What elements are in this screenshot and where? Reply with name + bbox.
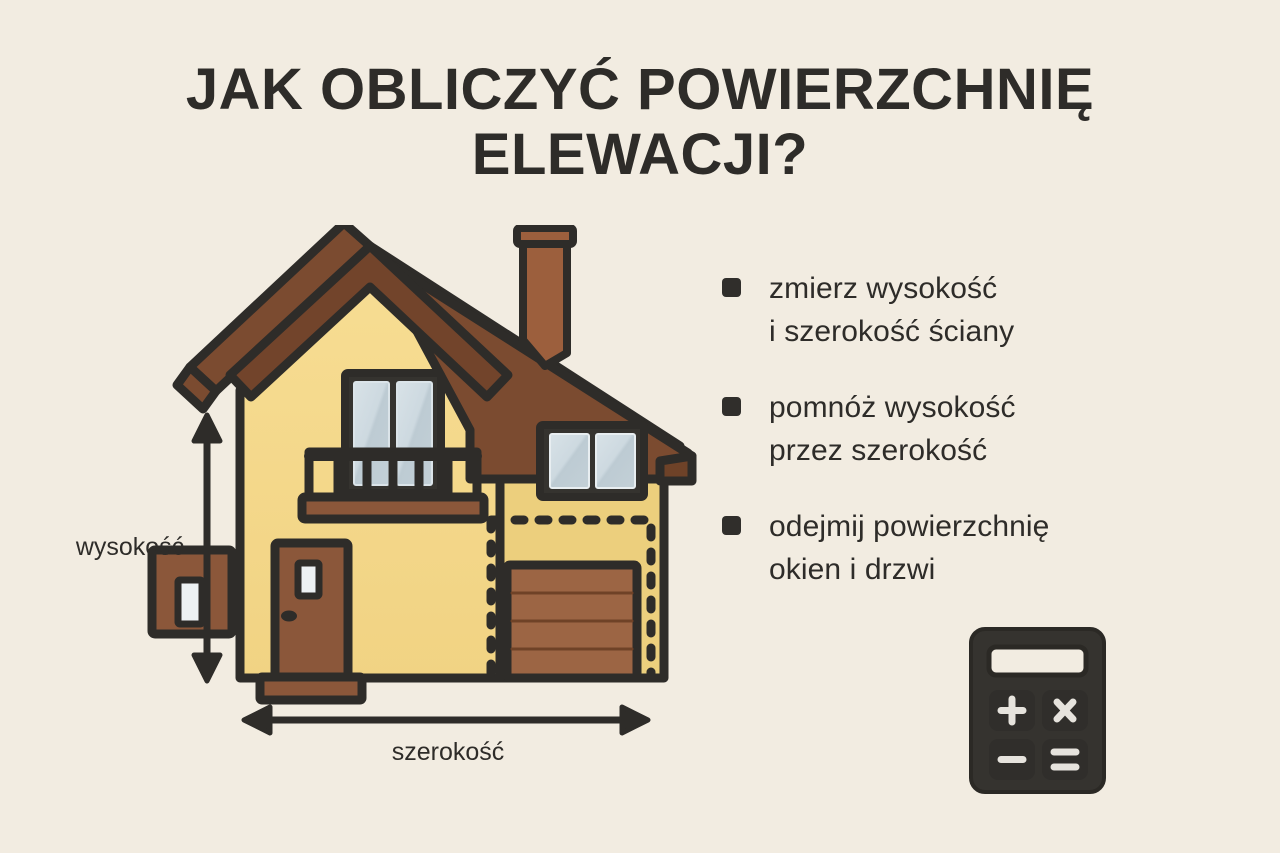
list-item: odejmij powierzchnię okien i drzwi [722,506,1192,591]
chimney-stack [523,240,567,366]
steps-list: zmierz wysokość i szerokość ściany pomnó… [722,268,1192,626]
house-elevation-diagram: wysokość szerokość [40,225,740,805]
list-item-label: odejmij powierzchnię okien i drzwi [769,506,1049,591]
square-bullet-icon [722,397,741,416]
ground-window-pane [178,580,202,624]
balcony-slab [302,497,484,519]
height-label: wysokość [75,533,184,561]
list-item-label: zmierz wysokość i szerokość ściany [769,268,1014,353]
roof-right-eave [660,456,692,481]
width-dimension-arrow [244,707,648,733]
garage-door [507,565,637,678]
list-item: pomnóż wysokość przez szerokość [722,387,1192,472]
square-bullet-icon [722,516,741,535]
list-item-label: pomnóż wysokość przez szerokość [769,387,1016,472]
upper-right-window [540,425,644,497]
square-bullet-icon [722,278,741,297]
front-door-window [298,563,319,596]
calculator-display [989,647,1086,675]
door-step [260,677,362,700]
calculator-key-equals [1042,739,1088,780]
calculator-icon [967,625,1110,797]
list-item: zmierz wysokość i szerokość ściany [722,268,1192,353]
width-label: szerokość [392,738,505,766]
door-knob [281,611,297,622]
page-title: JAK OBLICZYĆ POWIERZCHNIĘ ELEWACJI? [140,58,1140,188]
infographic-poster: JAK OBLICZYĆ POWIERZCHNIĘ ELEWACJI? [0,0,1280,853]
chimney-cap [517,228,573,244]
calculator-svg [967,625,1110,797]
house-illustration-svg: wysokość szerokość [40,225,740,805]
